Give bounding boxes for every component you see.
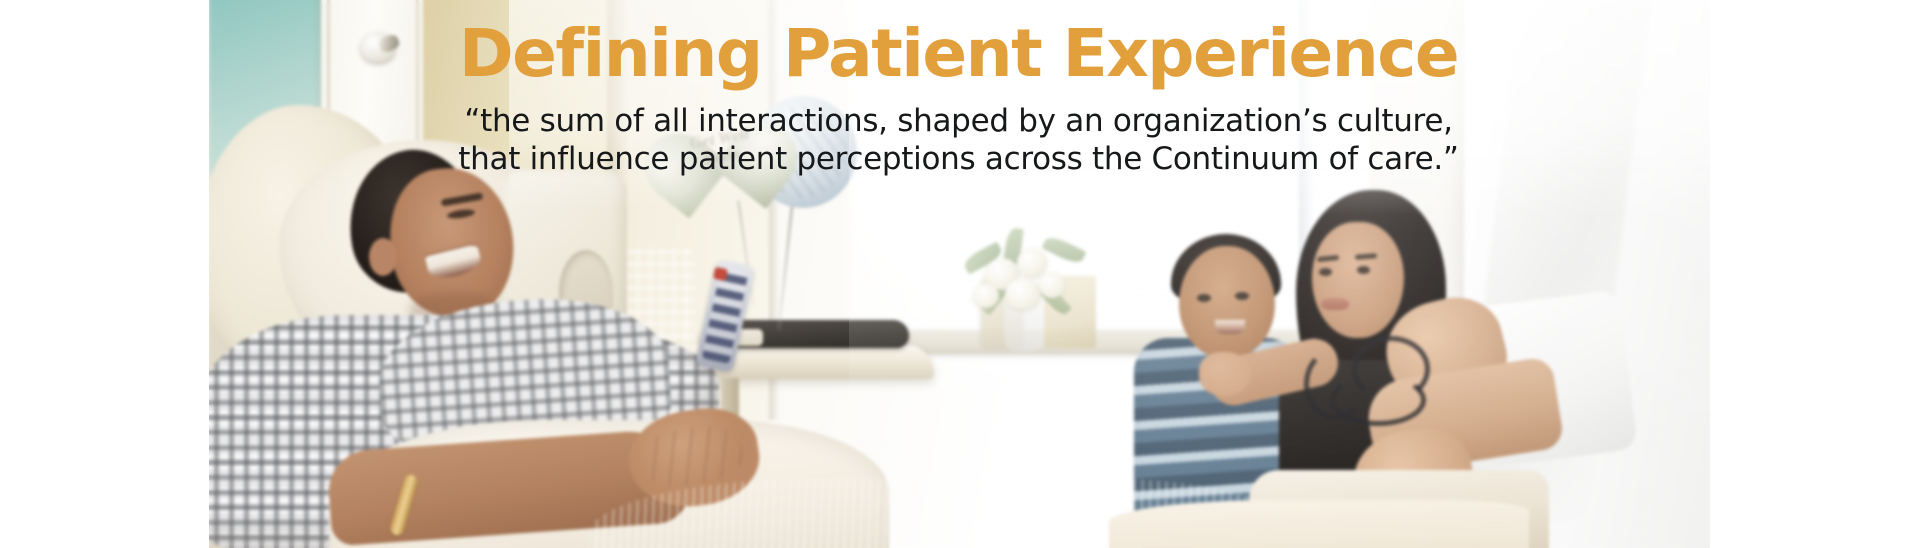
stethoscope-tube bbox=[1330, 374, 1426, 426]
woman-face bbox=[1312, 222, 1404, 338]
hospital-room-photo: Get Well Soon bbox=[209, 0, 1710, 548]
wall-light-fixture bbox=[361, 32, 395, 62]
bouquet-flower bbox=[1017, 248, 1047, 278]
boy-face bbox=[1179, 246, 1275, 358]
flower-bouquet bbox=[961, 232, 1089, 328]
call-remote-red-button bbox=[713, 267, 728, 281]
patient-experience-banner: Get Well Soon bbox=[0, 0, 1917, 548]
woman-mouth bbox=[1321, 298, 1349, 310]
bed-sheet-foreground bbox=[1109, 500, 1529, 548]
woman-eye bbox=[1357, 266, 1370, 274]
boy-eye bbox=[1197, 294, 1211, 302]
bouquet-flower bbox=[973, 284, 999, 308]
boy-eye bbox=[1235, 292, 1249, 300]
patient-ear bbox=[369, 238, 397, 276]
balloon-heart-get-well: Get Well Soon bbox=[655, 85, 786, 211]
boy-mouth bbox=[1215, 320, 1245, 334]
bouquet-flower bbox=[1039, 272, 1065, 298]
stethoscope bbox=[1304, 330, 1454, 450]
bouquet-flower bbox=[1005, 278, 1041, 310]
woman-hand-on-shoulder bbox=[1199, 352, 1251, 396]
bouquet-leaf bbox=[1042, 234, 1087, 267]
woman-eye bbox=[1319, 268, 1332, 276]
